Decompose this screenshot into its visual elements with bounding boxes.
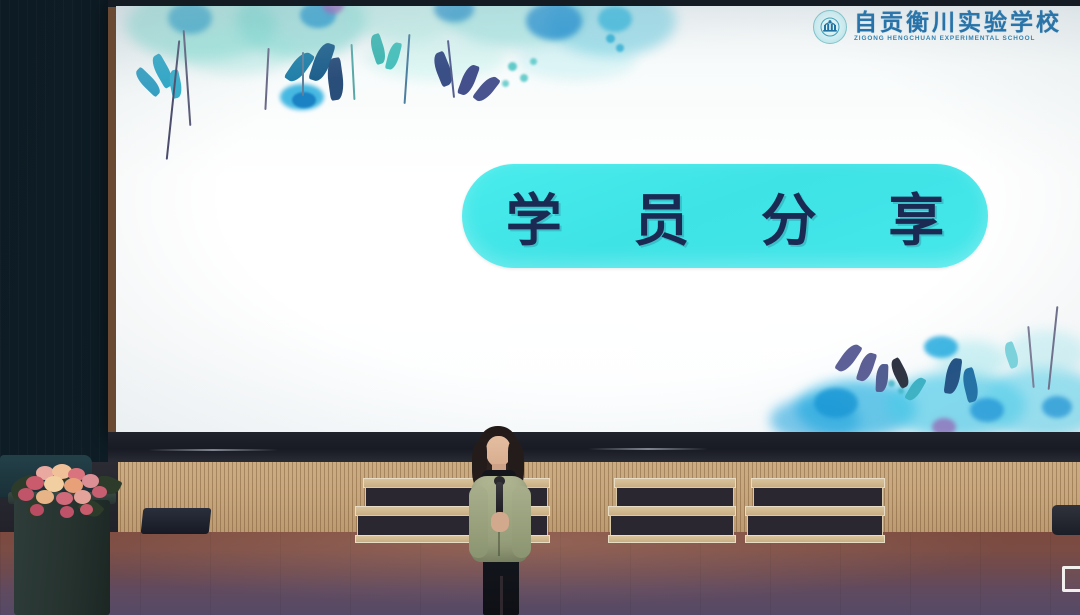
choir-riser-platform (608, 478, 736, 546)
school-crest-icon (813, 10, 847, 44)
projection-screen: 学 员 分 享 自贡衡川实验学校 ZIGONG HENGCHUAN EXPERI… (116, 6, 1080, 433)
school-name-chinese: 自贡衡川实验学校 (854, 11, 1062, 34)
flower-arrangement (6, 462, 124, 518)
choir-riser-platform (745, 478, 885, 546)
slide-title-pill: 学 员 分 享 (462, 164, 988, 268)
speaker-hands (491, 512, 509, 532)
student-speaker (455, 426, 545, 615)
slide-title: 学 员 分 享 (480, 176, 971, 257)
stage-monitor-speaker (1052, 505, 1080, 535)
school-name-block: 自贡衡川实验学校 ZIGONG HENGCHUAN EXPERIMENTAL S… (854, 11, 1062, 42)
school-logo: 自贡衡川实验学校 ZIGONG HENGCHUAN EXPERIMENTAL S… (813, 10, 1062, 44)
auditorium-scene: 学 员 分 享 自贡衡川实验学校 ZIGONG HENGCHUAN EXPERI… (0, 0, 1080, 615)
top-left-floral-decor (116, 6, 676, 180)
microphone-icon (496, 482, 503, 516)
speaker-arm-right (512, 486, 531, 558)
speaker-leg-gap (500, 576, 503, 615)
floor-marker-tag (1062, 566, 1080, 592)
school-name-english: ZIGONG HENGCHUAN EXPERIMENTAL SCHOOL (854, 36, 1062, 43)
screen-bottom-bezel (108, 432, 1080, 463)
speaker-arm-left (469, 486, 488, 558)
stage-monitor-speaker (141, 508, 212, 534)
bottom-right-floral-decor (756, 306, 1080, 433)
